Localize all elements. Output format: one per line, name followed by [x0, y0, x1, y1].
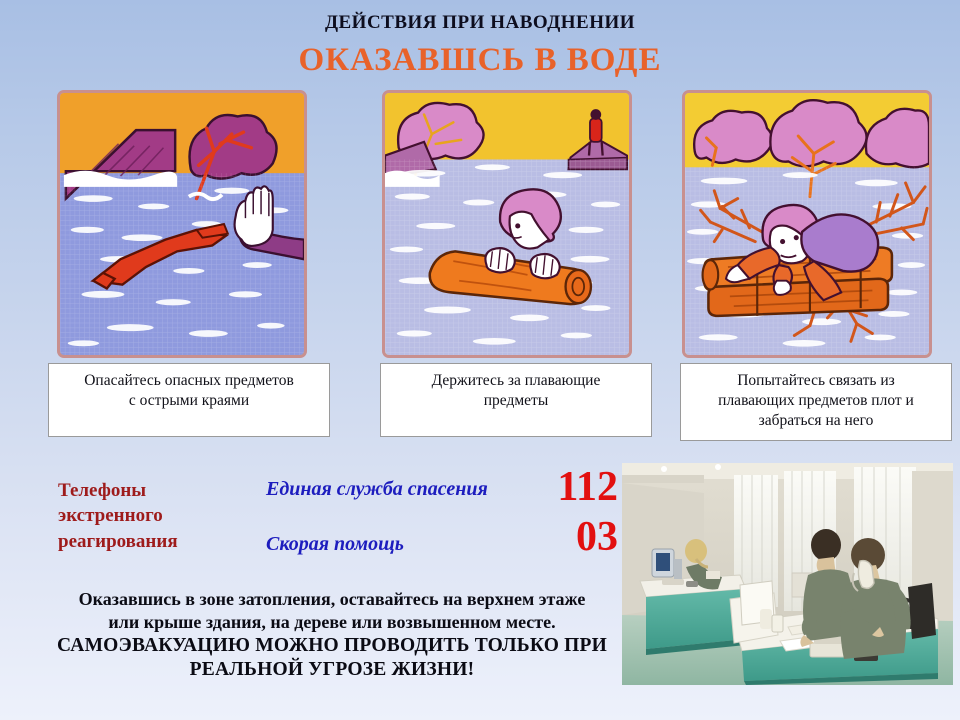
illustration-panel-2	[382, 90, 632, 358]
poster-root: ДЕЙСТВИЯ ПРИ НАВОДНЕНИИ ОКАЗАВШСЬ В ВОДЕ	[0, 0, 960, 720]
service-number-ambulance: 03	[528, 516, 618, 558]
service-name-rescue: Единая служба спасения	[266, 478, 488, 501]
build-raft-illustration	[685, 93, 929, 355]
hold-floating-log-illustration	[385, 93, 629, 355]
illustration-panel-3	[682, 90, 932, 358]
emergency-heading-line: реагирования	[58, 529, 248, 554]
caption-line: Попытайтесь связать из	[687, 371, 945, 391]
emergency-dispatch-center-photo	[622, 463, 953, 685]
caption-line: с острыми краями	[55, 391, 323, 411]
advisory-line: САМОЭВАКУАЦИЮ МОЖНО ПРОВОДИТЬ ТОЛЬКО ПРИ	[34, 634, 630, 658]
caption-line: Держитесь за плавающие	[387, 371, 645, 391]
caption-line: плавающих предметов плот и	[687, 391, 945, 411]
emergency-heading-line: экстренного	[58, 503, 248, 528]
caption-box-3: Попытайтесь связать из плавающих предмет…	[680, 363, 952, 441]
caption-line: забраться на него	[687, 411, 945, 431]
caption-line: Опасайтесь опасных предметов	[55, 371, 323, 391]
emergency-heading-line: Телефоны	[58, 478, 248, 503]
advisory-text: Оказавшись в зоне затопления, оставайтес…	[34, 588, 630, 681]
emergency-phones-heading: Телефоны экстренного реагирования	[58, 478, 248, 554]
flood-sharp-debris-illustration	[60, 93, 304, 355]
caption-line: предметы	[387, 391, 645, 411]
service-name-ambulance: Скорая помощь	[266, 533, 404, 556]
advisory-line: Оказавшись в зоне затопления, оставайтес…	[34, 588, 630, 611]
service-number-rescue: 112	[528, 466, 618, 508]
dispatch-center-scene	[622, 463, 953, 685]
advisory-line: РЕАЛЬНОЙ УГРОЗЕ ЖИЗНИ!	[34, 658, 630, 682]
poster-subheading: ОКАЗАВШСЬ В ВОДЕ	[0, 42, 960, 79]
advisory-line: или крыше здания, на дереве или возвышен…	[34, 611, 630, 634]
poster-heading: ДЕЙСТВИЯ ПРИ НАВОДНЕНИИ	[0, 12, 960, 34]
illustration-panel-1	[57, 90, 307, 358]
caption-box-1: Опасайтесь опасных предметов с острыми к…	[48, 363, 330, 437]
caption-box-2: Держитесь за плавающие предметы	[380, 363, 652, 437]
